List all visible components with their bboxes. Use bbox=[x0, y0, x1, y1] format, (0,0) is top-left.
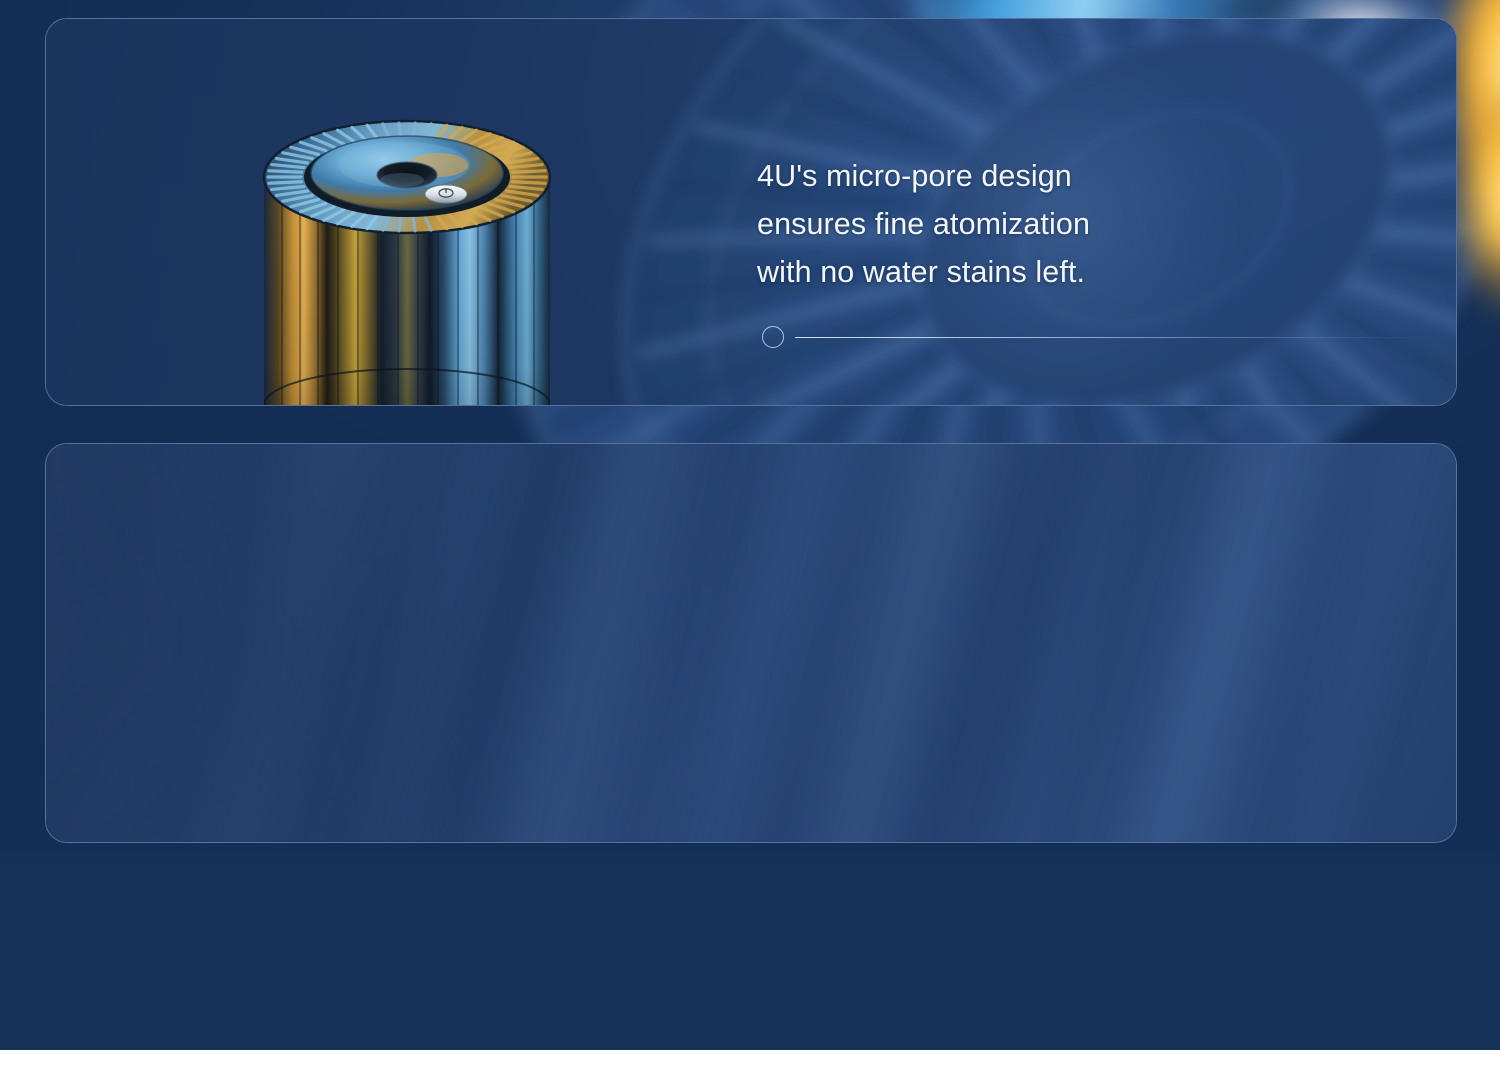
feature-divider-1 bbox=[762, 326, 1434, 348]
power-button[interactable] bbox=[425, 185, 467, 203]
page-bottom-strip bbox=[0, 1050, 1500, 1082]
card-2-vignette bbox=[46, 444, 1456, 842]
divider-circle-icon bbox=[762, 326, 784, 348]
feature-card-2[interactable]: Simple yet profound, top notes release f… bbox=[45, 443, 1457, 843]
background-lower-wash bbox=[0, 820, 1500, 1082]
cylinder-diffuser-photo bbox=[242, 105, 572, 406]
card-2-background bbox=[46, 444, 1456, 842]
feature-headline-1: 4U's micro-pore design ensures fine atom… bbox=[757, 152, 1397, 296]
feature-card-1[interactable]: 4U's micro-pore design ensures fine atom… bbox=[45, 18, 1457, 406]
divider-rule bbox=[795, 337, 1434, 338]
feature-text-1: 4U's micro-pore design ensures fine atom… bbox=[757, 152, 1397, 296]
product-feature-page: 4U's micro-pore design ensures fine atom… bbox=[0, 0, 1500, 1082]
